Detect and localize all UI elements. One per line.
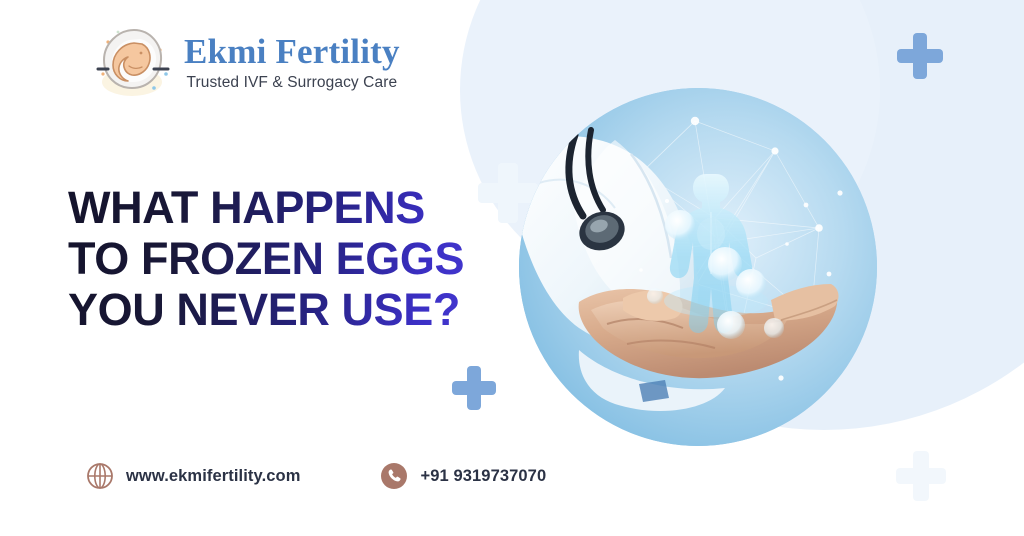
phone-contact[interactable]: +91 9319737070 (380, 462, 546, 490)
globe-icon (86, 462, 114, 490)
contact-bar: www.ekmifertility.com +91 9319737070 (86, 462, 546, 490)
brand-tagline: Trusted IVF & Surrogacy Care (186, 73, 397, 93)
fetus-embryo-icon (88, 22, 174, 102)
phone-icon (380, 462, 408, 490)
plus-cross-icon-top-right (897, 33, 943, 79)
website-label: www.ekmifertility.com (126, 467, 300, 486)
brand-name: Ekmi Fertility (184, 33, 400, 71)
phone-label: +91 9319737070 (420, 467, 546, 486)
promo-banner: Ekmi Fertility Trusted IVF & Surrogacy C… (0, 0, 1024, 536)
brand-logo[interactable]: Ekmi Fertility Trusted IVF & Surrogacy C… (88, 22, 400, 102)
headline-text: WHAT HAPPENS TO FROZEN EGGS YOU NEVER US… (68, 182, 464, 335)
plus-cross-icon-bottom-right (896, 451, 946, 501)
plus-cross-icon-bottom-left (452, 366, 496, 410)
hero-image (519, 88, 877, 446)
website-contact[interactable]: www.ekmifertility.com (86, 462, 300, 490)
